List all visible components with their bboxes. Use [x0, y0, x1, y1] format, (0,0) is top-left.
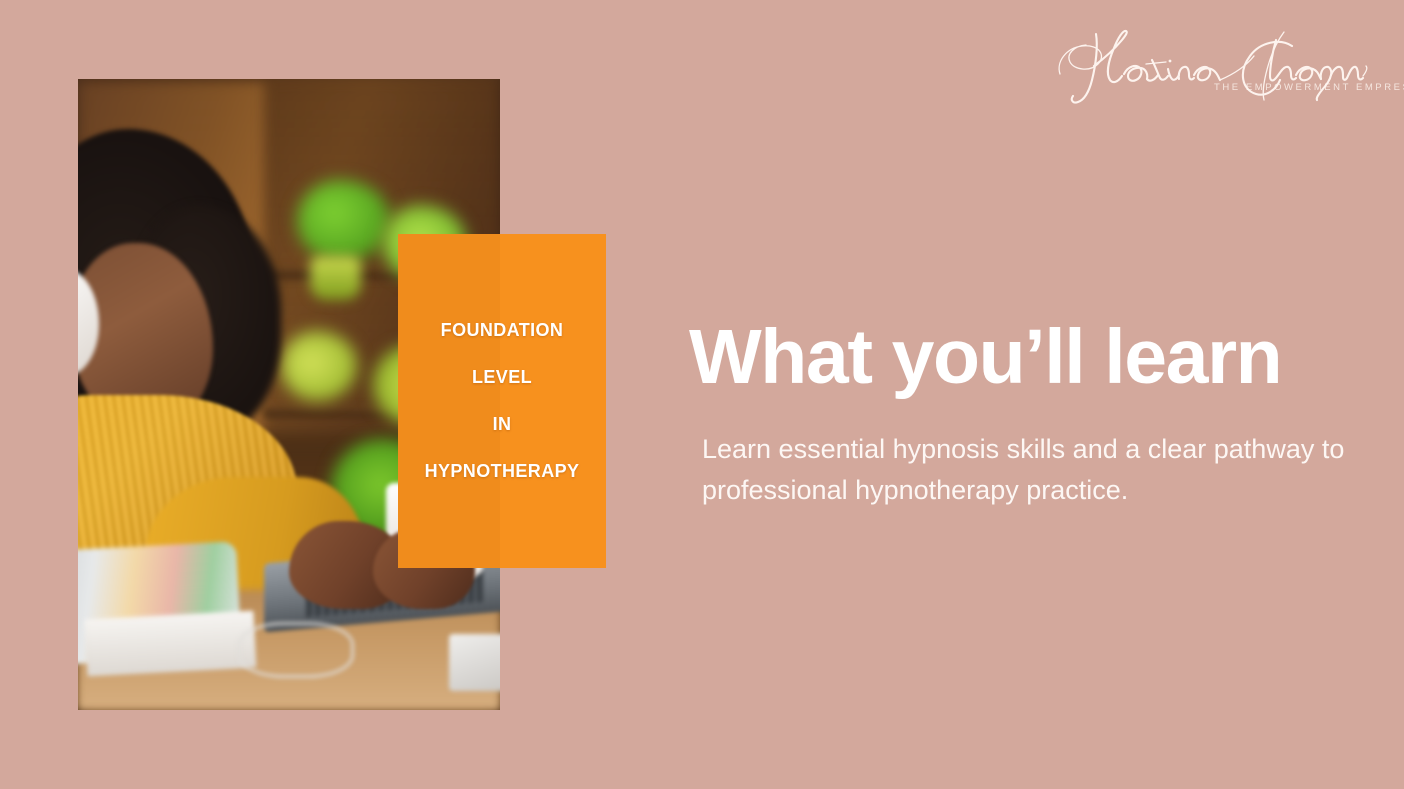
- brand-logo: THE EMPOWERMENT EMPRESS: [1048, 22, 1368, 108]
- course-level-badge: FOUNDATION LEVEL IN HYPNOTHERAPY: [398, 234, 606, 568]
- plant-3: [281, 331, 357, 400]
- page-subtitle: Learn essential hypnosis skills and a cl…: [702, 429, 1382, 511]
- book-page: [85, 611, 257, 677]
- eyeglasses: [238, 622, 354, 678]
- pot-1: [310, 256, 361, 300]
- badge-line-1: FOUNDATION: [441, 307, 564, 354]
- badge-line-4: HYPNOTHERAPY: [425, 448, 580, 495]
- badge-line-2: LEVEL: [472, 354, 532, 401]
- badge-line-3: IN: [493, 401, 512, 448]
- badge-photo-overlap: [398, 234, 500, 568]
- brand-script-logo: [1048, 22, 1368, 108]
- slide-canvas: THE EMPOWERMENT EMPRESS: [0, 0, 1404, 789]
- brand-tagline: THE EMPOWERMENT EMPRESS: [1214, 82, 1404, 93]
- smartphone: [449, 634, 500, 691]
- page-title: What you’ll learn: [689, 319, 1349, 396]
